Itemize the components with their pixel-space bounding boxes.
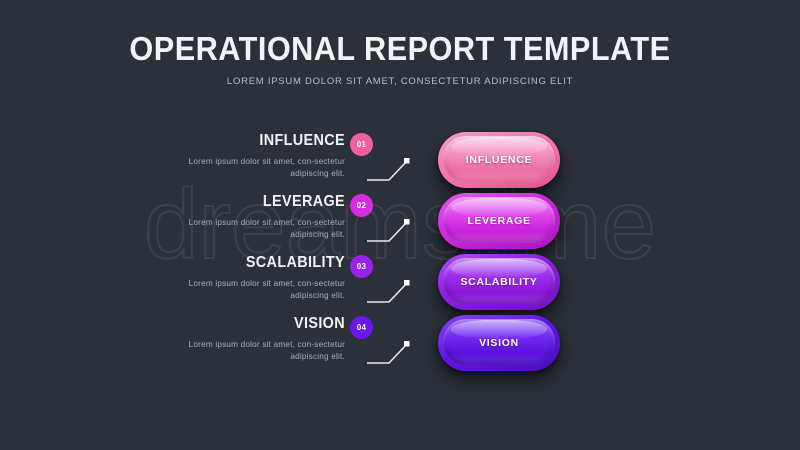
pill-label: SCALABILITY bbox=[438, 254, 560, 310]
pill-label: VISION bbox=[438, 315, 560, 371]
infographic-canvas: dreamstime OPERATIONAL REPORT TEMPLATE L… bbox=[0, 0, 800, 450]
row-title: INFLUENCE bbox=[170, 132, 346, 150]
page-title: OPERATIONAL REPORT TEMPLATE bbox=[28, 30, 772, 68]
row-title: VISION bbox=[170, 315, 346, 333]
connector-arrow-icon bbox=[365, 152, 417, 186]
row-title: LEVERAGE bbox=[170, 193, 346, 211]
row-description: Lorem ipsum dolor sit amet, con-sectetur… bbox=[150, 156, 345, 179]
list-item: VISION Lorem ipsum dolor sit amet, con-s… bbox=[0, 315, 800, 377]
pill-button-leverage[interactable]: LEVERAGE bbox=[438, 193, 560, 249]
connector-arrow-icon bbox=[365, 213, 417, 247]
row-title: SCALABILITY bbox=[170, 254, 346, 272]
step-number-label: 03 bbox=[357, 262, 367, 271]
page-subtitle: LOREM IPSUM DOLOR SIT AMET, CONSECTETUR … bbox=[0, 76, 800, 87]
step-number-label: 02 bbox=[357, 201, 367, 210]
list-item: SCALABILITY Lorem ipsum dolor sit amet, … bbox=[0, 254, 800, 316]
connector-arrow-icon bbox=[365, 335, 417, 369]
step-number-label: 04 bbox=[357, 323, 367, 332]
pill-button-scalability[interactable]: SCALABILITY bbox=[438, 254, 560, 310]
list-item: INFLUENCE Lorem ipsum dolor sit amet, co… bbox=[0, 132, 800, 194]
row-text-column: VISION Lorem ipsum dolor sit amet, con-s… bbox=[150, 315, 345, 362]
pill-label: INFLUENCE bbox=[438, 132, 560, 188]
list-item: LEVERAGE Lorem ipsum dolor sit amet, con… bbox=[0, 193, 800, 255]
row-description: Lorem ipsum dolor sit amet, con-sectetur… bbox=[150, 217, 345, 240]
pill-label: LEVERAGE bbox=[438, 193, 560, 249]
row-text-column: SCALABILITY Lorem ipsum dolor sit amet, … bbox=[150, 254, 345, 301]
row-description: Lorem ipsum dolor sit amet, con-sectetur… bbox=[150, 339, 345, 362]
row-text-column: INFLUENCE Lorem ipsum dolor sit amet, co… bbox=[150, 132, 345, 179]
pill-button-influence[interactable]: INFLUENCE bbox=[438, 132, 560, 188]
row-text-column: LEVERAGE Lorem ipsum dolor sit amet, con… bbox=[150, 193, 345, 240]
connector-arrow-icon bbox=[365, 274, 417, 308]
pill-button-vision[interactable]: VISION bbox=[438, 315, 560, 371]
header: OPERATIONAL REPORT TEMPLATE LOREM IPSUM … bbox=[0, 30, 800, 87]
row-description: Lorem ipsum dolor sit amet, con-sectetur… bbox=[150, 278, 345, 301]
step-number-label: 01 bbox=[357, 140, 367, 149]
